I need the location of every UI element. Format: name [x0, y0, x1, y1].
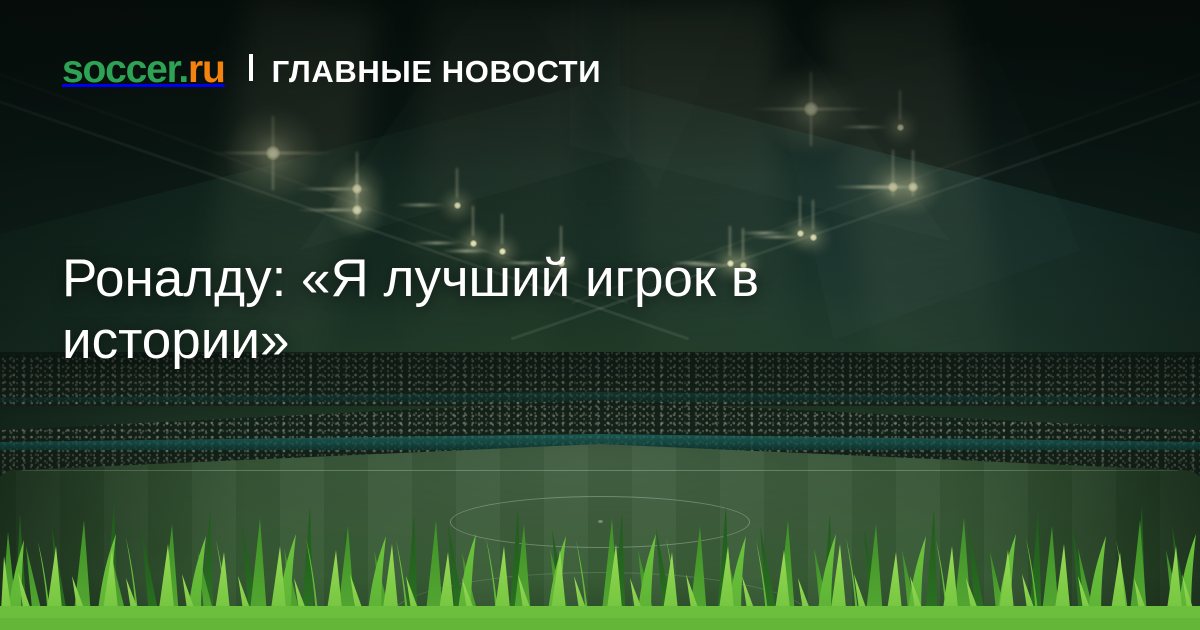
site-header: soccer.ru ГЛАВНЫЕ НОВОСТИ [62, 50, 601, 89]
header-kicker: ГЛАВНЫЕ НОВОСТИ [272, 56, 601, 87]
logo-text-suffix: ru [188, 48, 225, 91]
site-logo[interactable]: soccer.ru [62, 50, 225, 89]
foreground-grass [0, 480, 1200, 630]
article-headline: Роналду: «Я лучший игрок в истории» [62, 248, 892, 372]
logo-text-primary: soccer. [62, 48, 188, 91]
header-divider [249, 54, 253, 81]
social-share-card: soccer.ru ГЛАВНЫЕ НОВОСТИ Роналду: «Я лу… [0, 0, 1200, 630]
